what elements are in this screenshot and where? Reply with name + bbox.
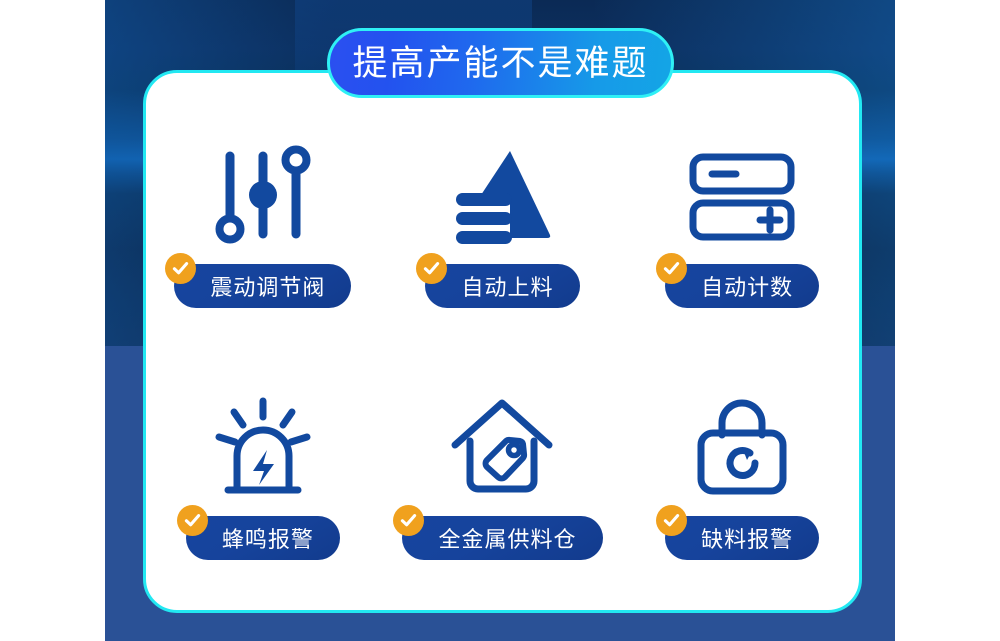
check-icon (656, 505, 687, 536)
check-icon (656, 253, 687, 284)
feature-label-wrap: 震动调节阀 (174, 264, 351, 308)
feature-label-wrap: 全金属供料仓 (402, 516, 602, 560)
page-title-banner: 提高产能不是难题 (327, 28, 674, 98)
feature-label: 全金属供料仓 (402, 516, 602, 560)
alarm-beacon-icon (211, 388, 315, 506)
sliders-icon (211, 136, 315, 254)
feature-label-wrap: 缺料报警 (665, 516, 819, 560)
feature-label: 自动上料 (425, 264, 579, 308)
metal-hopper-icon (450, 388, 554, 506)
feature-item-shortage-alarm[interactable]: 缺料报警 (622, 362, 862, 614)
page-title: 提高产能不是难题 (352, 46, 648, 81)
feature-item-auto-counting[interactable]: 自动计数 (622, 110, 862, 362)
feature-label: 蜂鸣报警 (186, 516, 340, 560)
feature-item-metal-hopper[interactable]: 全金属供料仓 (383, 362, 623, 614)
check-icon (177, 505, 208, 536)
feature-label-wrap: 自动上料 (425, 264, 579, 308)
feature-item-auto-feeding[interactable]: 自动上料 (383, 110, 623, 362)
feature-label: 自动计数 (665, 264, 819, 308)
feature-item-vibration-valve[interactable]: 震动调节阀 (143, 110, 383, 362)
feature-grid: 震动调节阀 自动上料 (143, 110, 862, 613)
feature-label-wrap: 自动计数 (665, 264, 819, 308)
feature-item-buzzer-alarm[interactable]: 蜂鸣报警 (143, 362, 383, 614)
auto-feed-icon (450, 136, 554, 254)
feature-label: 缺料报警 (665, 516, 819, 560)
feature-label: 震动调节阀 (174, 264, 351, 308)
check-icon (393, 505, 424, 536)
unlock-reset-icon (690, 388, 794, 506)
counter-icon (688, 136, 796, 254)
feature-label-wrap: 蜂鸣报警 (186, 516, 340, 560)
